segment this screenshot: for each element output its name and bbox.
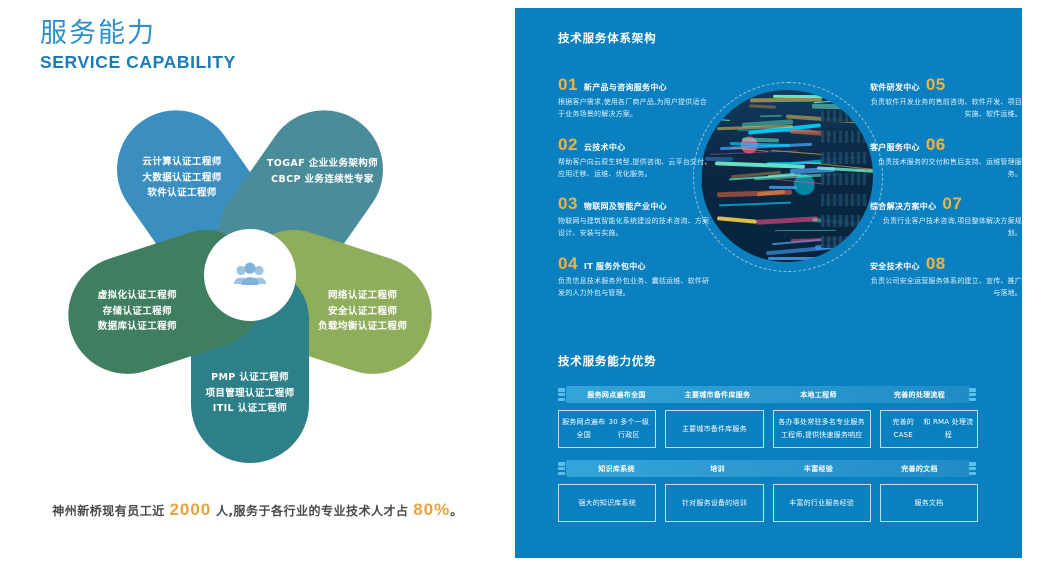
bracket-decoration-left (558, 388, 567, 401)
item-description: 帮助客户向云原生转型,提供咨询、云平台交付、应用迁移、运维、优化服务。 (558, 156, 713, 181)
item-number: 04 (558, 255, 578, 272)
item-name: 客户服务中心 (870, 142, 920, 153)
item-name: 软件研发中心 (870, 82, 920, 93)
advantage-body-cell[interactable]: 强大的知识库系统 (558, 484, 656, 522)
item-number: 08 (926, 255, 946, 272)
advantage-body-cell[interactable]: 各办事处常驻多名专业服务工程师,提供快速服务响应 (773, 410, 871, 448)
photo-streaks (701, 90, 873, 262)
caption-percentage: 80% (413, 500, 450, 519)
item-number: 05 (926, 76, 946, 93)
item-number: 03 (558, 195, 578, 212)
advantage-body-cell[interactable]: 主要城市备件库服务 (665, 410, 763, 448)
architecture-items-left: 01新产品与咨询服务中心根据客户需求,使用各厂商产品,为用户提供适合于业务场景的… (558, 76, 713, 314)
petal-label-5: 虚拟化认证工程师存储认证工程师数据库认证工程师 (62, 288, 212, 335)
architecture-item-05[interactable]: 05软件研发中心负责软件开发业务的售前咨询、软件开发、项目实施、软件运维。 (870, 76, 1022, 121)
item-number: 06 (926, 136, 946, 153)
item-description: 负责行业客户技术咨询,项目整体解决方案规划。 (870, 215, 1022, 240)
architecture-item-07[interactable]: 07综合解决方案中心负责行业客户技术咨询,项目整体解决方案规划。 (870, 195, 1022, 240)
caption-part3: 。 (450, 504, 463, 518)
architecture-item-01[interactable]: 01新产品与咨询服务中心根据客户需求,使用各厂商产品,为用户提供适合于业务场景的… (558, 76, 713, 121)
advantage-body-row: 服务网点遍布全国30 多个一级行政区主要城市备件库服务各办事处常驻多名专业服务工… (558, 410, 978, 448)
advantage-header-cell: 完善的文档 (869, 464, 970, 474)
item-description: 负责技术服务的交付和售后支持、运维管理服务。 (870, 156, 1022, 181)
bracket-decoration-left (558, 462, 567, 475)
data-center-photo (701, 90, 873, 262)
advantage-header-cell: 丰富经验 (768, 464, 869, 474)
advantage-body-row: 强大的知识库系统针对服务设备的培训丰富的行业服务经验服务文档 (558, 484, 978, 522)
advantage-header-cell: 培训 (667, 464, 768, 474)
item-description: 物联网与建筑智能化系统建设的技术咨询、方案设计、安装与实施。 (558, 215, 713, 240)
item-name: 安全技术中心 (870, 261, 920, 272)
caption-part1: 神州新桥现有员工近 (52, 504, 169, 518)
petal-label-4: PMP 认证工程师项目管理认证工程师ITIL 认证工程师 (175, 370, 325, 417)
employee-caption: 神州新桥现有员工近 2000 人,服务于各行业的专业技术人才占 80%。 (0, 500, 515, 520)
advantage-header-cell: 知识库系统 (566, 464, 667, 474)
advantage-header-cell: 主要城市备件库服务 (667, 390, 768, 400)
caption-employee-count: 2000 (169, 500, 211, 519)
advantage-header-row: 知识库系统培训丰富经验完善的文档 (566, 460, 970, 477)
advantage-block-2: 知识库系统培训丰富经验完善的文档强大的知识库系统针对服务设备的培训丰富的行业服务… (558, 460, 978, 522)
advantage-header-cell: 完善的处理流程 (869, 390, 970, 400)
users-group-icon (233, 262, 267, 288)
bracket-decoration-right (969, 462, 978, 475)
center-hub (218, 243, 282, 307)
item-name: 云技术中心 (584, 142, 626, 153)
item-name: 新产品与咨询服务中心 (584, 82, 667, 93)
advantages-table: 服务网点遍布全国主要城市备件库服务本地工程师完善的处理流程服务网点遍布全国30 … (558, 386, 978, 534)
advantage-header-cell: 服务网点遍布全国 (566, 390, 667, 400)
title-chinese: 服务能力 (40, 18, 236, 49)
architecture-item-06[interactable]: 06客户服务中心负责技术服务的交付和售后支持、运维管理服务。 (870, 136, 1022, 181)
petal-label-2: TOGAF 企业业务架构师CBCP 业务连续性专家 (247, 156, 397, 187)
advantage-header-row: 服务网点遍布全国主要城市备件库服务本地工程师完善的处理流程 (566, 386, 970, 403)
advantage-body-cell[interactable]: 服务网点遍布全国30 多个一级行政区 (558, 410, 656, 448)
item-name: 综合解决方案中心 (870, 201, 936, 212)
title-english: SERVICE CAPABILITY (40, 52, 236, 73)
capability-flower-diagram: 云计算认证工程师大数据认证工程师软件认证工程师TOGAF 企业业务架构师CBCP… (40, 95, 460, 455)
advantage-header-cell: 本地工程师 (768, 390, 869, 400)
bracket-decoration-right (969, 388, 978, 401)
section-title-architecture: 技术服务体系架构 (558, 30, 656, 46)
advantage-body-cell[interactable]: 丰富的行业服务经验 (773, 484, 871, 522)
petal-label-3: 网络认证工程师安全认证工程师负载均衡认证工程师 (288, 288, 438, 335)
advantage-body-cell[interactable]: 完善的 CASE和 RMA 处理流程 (880, 410, 978, 448)
architecture-items-right: 05软件研发中心负责软件开发业务的售前咨询、软件开发、项目实施、软件运维。06客… (870, 76, 1022, 314)
caption-part2: 人,服务于各行业的专业技术人才占 (211, 504, 413, 518)
advantage-body-cell[interactable]: 服务文档 (880, 484, 978, 522)
item-name: IT 服务外包中心 (584, 261, 646, 272)
left-pane: 服务能力 SERVICE CAPABILITY 云计算认证工程师大数据认证工程师… (0, 0, 515, 576)
item-description: 根据客户需求,使用各厂商产品,为用户提供适合于业务场景的解决方案。 (558, 96, 713, 121)
architecture-item-02[interactable]: 02云技术中心帮助客户向云原生转型,提供咨询、云平台交付、应用迁移、运维、优化服… (558, 136, 713, 181)
item-number: 07 (942, 195, 962, 212)
item-description: 负责软件开发业务的售前咨询、软件开发、项目实施、软件运维。 (870, 96, 1022, 121)
architecture-item-04[interactable]: 04IT 服务外包中心负责信息技术服务外包业务、囊括运维、软件研发的人力外包与管… (558, 255, 713, 300)
slide-root: 服务能力 SERVICE CAPABILITY 云计算认证工程师大数据认证工程师… (0, 0, 1041, 576)
architecture-item-03[interactable]: 03物联网及智能产业中心物联网与建筑智能化系统建设的技术咨询、方案设计、安装与实… (558, 195, 713, 240)
right-panel: 技术服务体系架构 01新产品与咨询服务中心根据客户需求,使用各厂商产品,为用户提… (515, 8, 1022, 558)
item-name: 物联网及智能产业中心 (584, 201, 667, 212)
item-description: 负责公司安全运营服务体系的建立、宣传、推广与落地。 (870, 275, 1022, 300)
section-title-advantages: 技术服务能力优势 (558, 353, 656, 369)
architecture-item-08[interactable]: 08安全技术中心负责公司安全运营服务体系的建立、宣传、推广与落地。 (870, 255, 1022, 300)
item-number: 02 (558, 136, 578, 153)
item-number: 01 (558, 76, 578, 93)
item-description: 负责信息技术服务外包业务、囊括运维、软件研发的人力外包与管理。 (558, 275, 713, 300)
advantage-body-cell[interactable]: 针对服务设备的培训 (665, 484, 763, 522)
advantage-block-1: 服务网点遍布全国主要城市备件库服务本地工程师完善的处理流程服务网点遍布全国30 … (558, 386, 978, 448)
page-title: 服务能力 SERVICE CAPABILITY (40, 18, 236, 73)
